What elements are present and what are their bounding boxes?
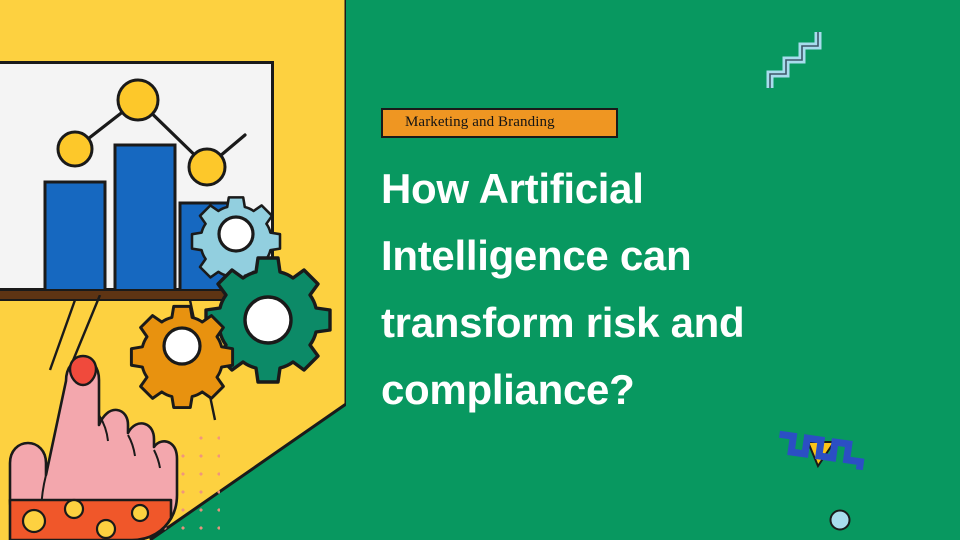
headline-line-3: transform risk and (381, 289, 851, 356)
fingernail (70, 356, 96, 385)
pointer-string (72, 295, 100, 363)
headline-line-2: Intelligence can (381, 222, 851, 289)
page-title: How Artificial Intelligence can transfor… (381, 155, 851, 423)
headline-line-4: compliance? (381, 356, 851, 423)
category-badge-label: Marketing and Branding (405, 114, 555, 131)
pointing-hand-illustration (0, 295, 200, 540)
headline-line-1: How Artificial (381, 155, 851, 222)
slide-canvas: Marketing and Branding How Artificial In… (0, 0, 960, 540)
category-badge[interactable]: Marketing and Branding (381, 108, 618, 138)
